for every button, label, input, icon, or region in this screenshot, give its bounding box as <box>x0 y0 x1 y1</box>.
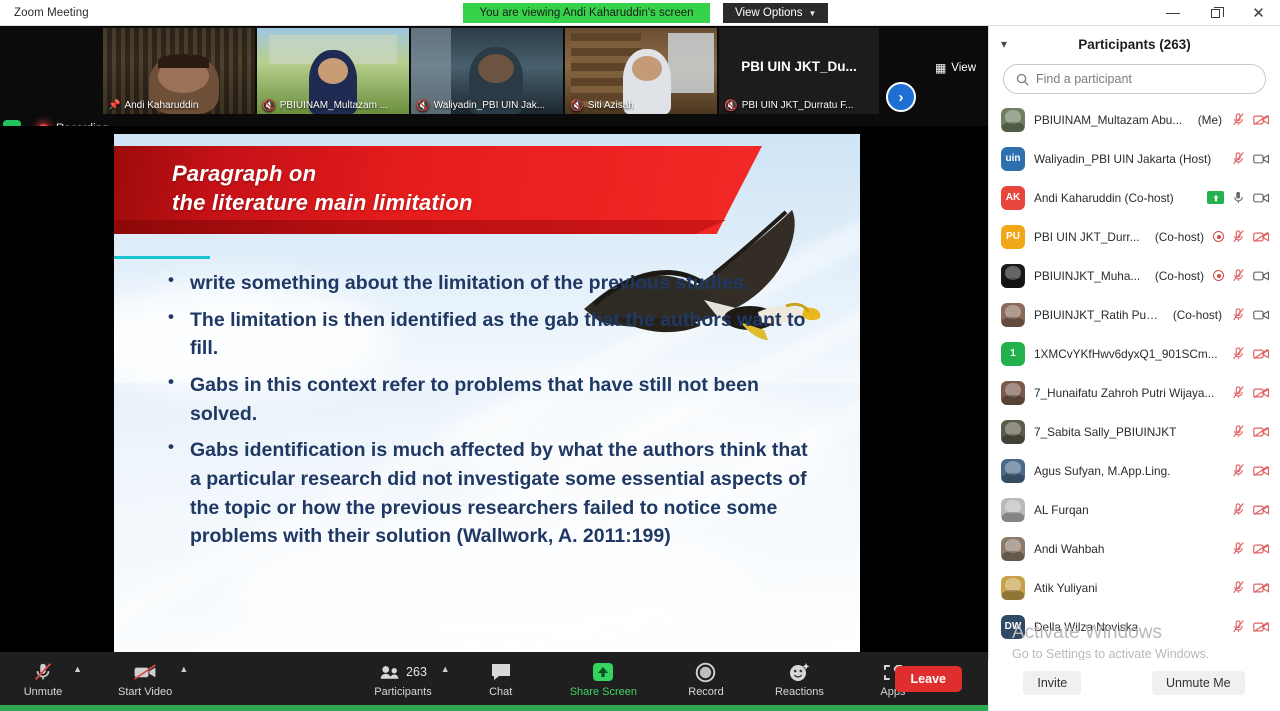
slide-bullet-item: The limitation is then identified as the… <box>162 306 822 363</box>
raise-hand-green-icon[interactable] <box>1207 191 1224 204</box>
record-icon <box>695 661 716 683</box>
participants-panel-header: ▾ Participants (263) <box>989 26 1280 62</box>
video-thumbnail-pbi-uin-jkt-durratu[interactable]: PBI UIN JKT_Du... 🔇 PBI UIN JKT_Durratu … <box>719 28 879 114</box>
participants-button[interactable]: 263 Participants ▲ <box>366 652 439 707</box>
avatar: AK <box>1001 186 1025 210</box>
participant-name: Andi Wahbah <box>1034 542 1222 556</box>
video-muted-icon <box>1253 386 1270 400</box>
maximize-button[interactable] <box>1194 0 1237 26</box>
chevron-down-icon[interactable]: ▾ <box>1001 37 1007 51</box>
participant-row[interactable]: Agus Sufyan, M.App.Ling. <box>989 451 1280 490</box>
video-icon <box>1253 308 1270 322</box>
video-muted-icon <box>1253 347 1270 361</box>
meeting-toolbar: Unmute ▲ Start Video ▲ <box>0 652 988 707</box>
share-screen-icon <box>592 661 614 683</box>
participant-name: Waliyadin_PBI UIN Jakarta (Host) <box>1034 152 1222 166</box>
mic-muted-icon: 🔇 <box>416 99 430 112</box>
video-thumbnail-pbiuinam-multazam[interactable]: 🔇 PBIUINAM_Multazam ... <box>257 28 409 114</box>
participant-status-icons <box>1231 307 1270 322</box>
window-title: Zoom Meeting <box>14 7 89 19</box>
video-icon <box>1253 191 1270 205</box>
unmute-me-button[interactable]: Unmute Me <box>1152 671 1245 695</box>
mic-muted-icon <box>1231 385 1246 400</box>
leave-label: Leave <box>911 672 946 686</box>
recording-dot-icon <box>1213 231 1224 242</box>
video-options-chevron-up-icon[interactable]: ▲ <box>179 664 188 674</box>
participant-search-wrapper: Find a participant <box>989 62 1280 94</box>
audio-options-chevron-up-icon[interactable]: ▲ <box>73 664 82 674</box>
invite-button[interactable]: Invite <box>1023 671 1081 695</box>
avatar <box>1001 264 1025 288</box>
red-banner-shadow-shape <box>114 220 726 234</box>
participant-row[interactable]: AKAndi Kaharuddin (Co-host) <box>989 178 1280 217</box>
participants-options-chevron-up-icon[interactable]: ▲ <box>441 664 450 674</box>
participant-row[interactable]: PBIUINJKT_Muha...(Co-host) <box>989 256 1280 295</box>
toolbar-left-group: Unmute ▲ Start Video ▲ <box>12 652 180 707</box>
participant-row[interactable]: PUPBI UIN JKT_Durr...(Co-host) <box>989 217 1280 256</box>
mic-muted-icon <box>1231 229 1246 244</box>
mic-muted-icon: 🔇 <box>724 99 738 112</box>
start-video-label: Start Video <box>118 686 172 698</box>
start-video-button[interactable]: Start Video ▲ <box>110 652 180 707</box>
participant-status-icons <box>1231 385 1270 400</box>
minimize-button[interactable] <box>1151 0 1194 26</box>
video-muted-icon <box>1253 620 1270 634</box>
participant-row[interactable]: 11XMCvYKfHwv6dyxQ1_901SCm... <box>989 334 1280 373</box>
slide-title-line1: Paragraph on <box>172 159 473 188</box>
participant-name: Della Wilza Noviska <box>1034 620 1222 634</box>
mic-muted-icon <box>1231 307 1246 322</box>
chat-label: Chat <box>489 686 512 698</box>
participants-icon-row: 263 <box>379 661 427 683</box>
reactions-icon <box>788 661 810 683</box>
participant-name: 7_Hunaifatu Zahroh Putri Wijaya... <box>1034 386 1222 400</box>
participant-row[interactable]: Atik Yuliyani <box>989 568 1280 607</box>
participant-name: PBIUINAM_Multazam Abu... <box>1034 113 1187 127</box>
participant-name: PBIUINJKT_Ratih Pudy... <box>1034 308 1162 322</box>
close-icon: ✕ <box>1252 6 1265 21</box>
thumbnail-name: Siti Azisah <box>588 100 634 111</box>
avatar: uin <box>1001 147 1025 171</box>
avatar <box>1001 108 1025 132</box>
mic-muted-icon: 🔇 <box>262 99 276 112</box>
mic-muted-icon <box>32 661 54 683</box>
participant-row[interactable]: PBIUINAM_Multazam Abu...(Me) <box>989 100 1280 139</box>
participant-status-icons <box>1207 190 1270 205</box>
avatar <box>1001 576 1025 600</box>
mic-muted-icon <box>1231 463 1246 478</box>
reactions-label: Reactions <box>775 686 824 698</box>
participant-row[interactable]: 7_Hunaifatu Zahroh Putri Wijaya... <box>989 373 1280 412</box>
chat-icon <box>490 661 512 683</box>
participant-name: AL Furqan <box>1034 503 1222 517</box>
grid-view-icon: ▦ <box>935 61 946 75</box>
thumbnail-name-row: 🔇 PBI UIN JKT_Durratu F... <box>719 97 879 114</box>
thumbnail-name: PBI UIN JKT_Durratu F... <box>742 100 854 111</box>
thumbnail-name: Waliyadin_PBI UIN Jak... <box>434 100 545 111</box>
participant-status-icons <box>1231 346 1270 361</box>
record-label: Record <box>688 686 723 698</box>
participants-panel-footer: Invite Unmute Me <box>988 660 1280 705</box>
mic-muted-icon: 🔇 <box>570 99 584 112</box>
participants-panel-title: Participants (263) <box>989 37 1280 52</box>
video-icon <box>1253 269 1270 283</box>
avatar <box>1001 420 1025 444</box>
share-screen-button[interactable]: Share Screen <box>562 652 645 707</box>
mic-muted-icon <box>1231 502 1246 517</box>
avatar <box>1001 459 1025 483</box>
view-options-button[interactable]: View Options ▼ <box>723 3 828 23</box>
avatar <box>1001 537 1025 561</box>
participant-status-icons <box>1231 502 1270 517</box>
slide-bullet-list: write something about the limitation of … <box>162 269 822 559</box>
minimize-icon <box>1166 13 1180 14</box>
participant-status-icons <box>1213 268 1270 283</box>
participant-role: (Co-host) <box>1155 269 1204 283</box>
video-icon <box>1253 152 1270 166</box>
unmute-button[interactable]: Unmute ▲ <box>12 652 74 707</box>
video-muted-icon <box>132 661 158 683</box>
chevron-right-icon: › <box>899 89 904 106</box>
thumbnail-name-row: 🔇 PBIUINAM_Multazam ... <box>257 97 409 114</box>
avatar <box>1001 303 1025 327</box>
participant-name: 1XMCvYKfHwv6dyxQ1_901SCm... <box>1034 347 1222 361</box>
participant-status-icons <box>1231 424 1270 439</box>
thumbnail-name-row: 🔇 Siti Azisah <box>565 97 717 114</box>
participant-status-icons <box>1231 619 1270 634</box>
share-screen-label: Share Screen <box>570 686 637 698</box>
video-muted-icon <box>1253 425 1270 439</box>
participant-row[interactable]: uinWaliyadin_PBI UIN Jakarta (Host) <box>989 139 1280 178</box>
video-thumbnails: 📌 Andi Kaharuddin 🔇 PBIUINAM_Multazam ..… <box>103 28 879 114</box>
participant-name: Atik Yuliyani <box>1034 581 1222 595</box>
thumbnail-name: Andi Kaharuddin <box>124 100 198 111</box>
mic-muted-icon <box>1231 151 1246 166</box>
video-muted-icon <box>1253 464 1270 478</box>
video-muted-icon <box>1253 113 1270 127</box>
reactions-button[interactable]: Reactions <box>767 652 832 707</box>
slide-bullet-item: write something about the limitation of … <box>162 269 822 298</box>
participants-count: 263 <box>406 665 427 679</box>
participant-row[interactable]: AL Furqan <box>989 490 1280 529</box>
leave-button[interactable]: Leave <box>895 666 962 692</box>
participant-name: Andi Kaharuddin (Co-host) <box>1034 191 1198 205</box>
screen-share-banner: You are viewing Andi Kaharuddin's screen <box>463 3 710 23</box>
thumbnail-name: PBIUINAM_Multazam ... <box>280 100 388 111</box>
participant-status-icons <box>1231 151 1270 166</box>
toolbar-center-group: 263 Participants ▲ Chat <box>366 652 924 707</box>
teal-accent-rule <box>114 256 210 259</box>
participant-row[interactable]: Andi Wahbah <box>989 529 1280 568</box>
participant-row[interactable]: PBIUINJKT_Ratih Pudy...(Co-host) <box>989 295 1280 334</box>
participant-name: PBI UIN JKT_Durr... <box>1034 230 1144 244</box>
participants-panel: ▾ Participants (263) Find a participant … <box>988 26 1280 711</box>
participant-status-icons <box>1231 580 1270 595</box>
shared-screen-area: Paragraph on the literature main limitat… <box>0 126 988 652</box>
avatar: 1 <box>1001 342 1025 366</box>
participants-icon <box>379 664 401 680</box>
avatar: DW <box>1001 615 1025 639</box>
avatar <box>1001 498 1025 522</box>
slide-bullet-item: Gabs in this context refer to problems t… <box>162 371 822 428</box>
participant-name: 7_Sabita Sally_PBIUINJKT <box>1034 425 1222 439</box>
video-thumbnail-siti-azisah[interactable]: 🔇 Siti Azisah <box>565 28 717 114</box>
mic-muted-icon <box>1231 580 1246 595</box>
participant-role: (Me) <box>1198 113 1222 127</box>
thumbnail-name-row: 🔇 Waliyadin_PBI UIN Jak... <box>411 97 563 114</box>
zoom-meeting-window: Zoom Meeting You are viewing Andi Kaharu… <box>0 0 1280 711</box>
video-muted-icon <box>1253 542 1270 556</box>
video-thumbnail-strip: 📌 Andi Kaharuddin 🔇 PBIUINAM_Multazam ..… <box>0 26 988 118</box>
search-icon <box>1016 73 1029 86</box>
search-input[interactable]: Find a participant <box>1003 64 1266 94</box>
mic-icon <box>1231 190 1246 205</box>
video-muted-icon <box>1253 503 1270 517</box>
recording-dot-icon <box>1213 270 1224 281</box>
chevron-down-icon: ▼ <box>809 9 817 18</box>
thumbnail-name-row: 📌 Andi Kaharuddin <box>103 97 255 114</box>
mic-muted-icon <box>1231 346 1246 361</box>
view-options-label: View Options <box>735 7 803 19</box>
participant-role: (Co-host) <box>1155 230 1204 244</box>
title-bar: Zoom Meeting You are viewing Andi Kaharu… <box>0 0 1280 26</box>
video-muted-icon <box>1253 581 1270 595</box>
participant-status-icons <box>1231 541 1270 556</box>
participant-row[interactable]: DWDella Wilza Noviska <box>989 607 1280 646</box>
close-button[interactable]: ✕ <box>1237 0 1280 26</box>
participant-row[interactable]: 7_Sabita Sally_PBIUINJKT <box>989 412 1280 451</box>
participant-status-icons <box>1231 463 1270 478</box>
slide-title-band: Paragraph on the literature main limitat… <box>114 146 860 238</box>
video-thumbnail-waliyadin[interactable]: 🔇 Waliyadin_PBI UIN Jak... <box>411 28 563 114</box>
chat-button[interactable]: Chat <box>470 652 532 707</box>
window-controls: ✕ <box>1151 0 1280 26</box>
next-thumbnails-button[interactable]: › <box>886 82 916 112</box>
thumbnail-placeholder-title: PBI UIN JKT_Du... <box>741 59 857 74</box>
mic-muted-icon <box>1231 424 1246 439</box>
record-button[interactable]: Record <box>675 652 737 707</box>
invite-label: Invite <box>1037 676 1067 690</box>
search-placeholder: Find a participant <box>1036 72 1132 86</box>
unmute-me-label: Unmute Me <box>1166 676 1231 690</box>
participant-role: (Co-host) <box>1173 308 1222 322</box>
mic-muted-icon <box>1231 268 1246 283</box>
presentation-slide: Paragraph on the literature main limitat… <box>114 134 860 652</box>
slide-title: Paragraph on the literature main limitat… <box>172 159 473 218</box>
slide-bullet-item: Gabs identification is much affected by … <box>162 436 822 551</box>
video-muted-icon <box>1253 230 1270 244</box>
maximize-icon <box>1211 9 1220 18</box>
participants-list[interactable]: PBIUINAM_Multazam Abu...(Me)uinWaliyadin… <box>989 100 1280 646</box>
avatar: PU <box>1001 225 1025 249</box>
participant-status-icons <box>1231 112 1270 127</box>
participant-name: PBIUINJKT_Muha... <box>1034 269 1144 283</box>
screen-share-banner-text: You are viewing Andi Kaharuddin's screen <box>479 7 693 19</box>
avatar <box>1001 381 1025 405</box>
participant-status-icons <box>1213 229 1270 244</box>
slide-title-line2: the literature main limitation <box>172 188 473 217</box>
view-layout-label: View <box>951 62 976 74</box>
view-layout-button[interactable]: ▦ View <box>935 61 976 75</box>
mic-muted-icon <box>1231 112 1246 127</box>
mic-muted-icon <box>1231 541 1246 556</box>
participants-label: Participants <box>374 686 431 698</box>
unmute-label: Unmute <box>24 686 63 698</box>
pin-icon: 📌 <box>108 100 120 111</box>
participant-name: Agus Sufyan, M.App.Ling. <box>1034 464 1222 478</box>
mic-muted-icon <box>1231 619 1246 634</box>
video-thumbnail-andi-kaharuddin[interactable]: 📌 Andi Kaharuddin <box>103 28 255 114</box>
